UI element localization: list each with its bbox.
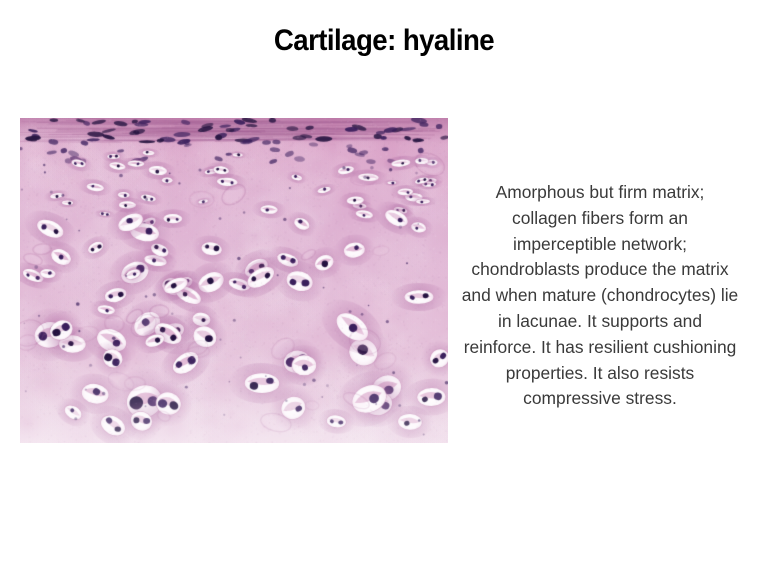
- caption-line: chondroblasts produce the matrix: [471, 259, 728, 279]
- caption-line: and when mature (chondrocytes) lie: [462, 285, 738, 305]
- caption-line: properties. It also resists: [506, 363, 694, 383]
- caption-line: imperceptible network;: [513, 234, 687, 254]
- micrograph-canvas: [20, 118, 448, 443]
- caption-text: Amorphous but firm matrix; collagen fibe…: [449, 180, 751, 412]
- caption-line: Amorphous but firm matrix;: [496, 182, 705, 202]
- cartilage-micrograph-image: [20, 118, 448, 443]
- caption-line: compressive stress.: [523, 388, 677, 408]
- page-title: Cartilage: hyaline: [31, 24, 738, 58]
- caption-line: reinforce. It has resilient cushioning: [464, 337, 737, 357]
- caption-line: collagen fibers form an: [512, 208, 688, 228]
- caption-line: in lacunae. It supports and: [498, 311, 702, 331]
